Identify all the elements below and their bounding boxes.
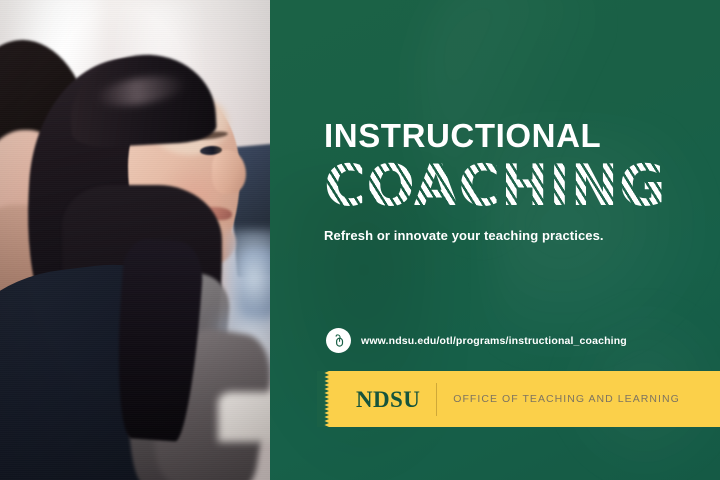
title-line-instructional: INSTRUCTIONAL [324, 118, 704, 154]
computer-mouse-icon [326, 328, 351, 353]
banner-zigzag-edge [317, 371, 329, 427]
title-line-coaching-wrap: COACHING [324, 156, 704, 218]
title-line-coaching: COACHING [324, 156, 666, 216]
classroom-photo [0, 0, 270, 480]
program-url[interactable]: www.ndsu.edu/otl/programs/instructional_… [361, 335, 627, 347]
tagline: Refresh or innovate your teaching practi… [324, 227, 704, 244]
banner-divider [436, 383, 437, 416]
banner-subtitle: OFFICE OF TEACHING AND LEARNING [453, 393, 680, 405]
photo-desk [218, 392, 270, 442]
footer-banner: NDSU OFFICE OF TEACHING AND LEARNING [318, 371, 720, 427]
headline-block: INSTRUCTIONAL COACHING Refresh or innova… [324, 118, 704, 244]
instructional-coaching-poster: INSTRUCTIONAL COACHING Refresh or innova… [0, 0, 720, 480]
ndsu-logo: NDSU [356, 388, 420, 411]
url-row[interactable]: www.ndsu.edu/otl/programs/instructional_… [326, 328, 627, 353]
